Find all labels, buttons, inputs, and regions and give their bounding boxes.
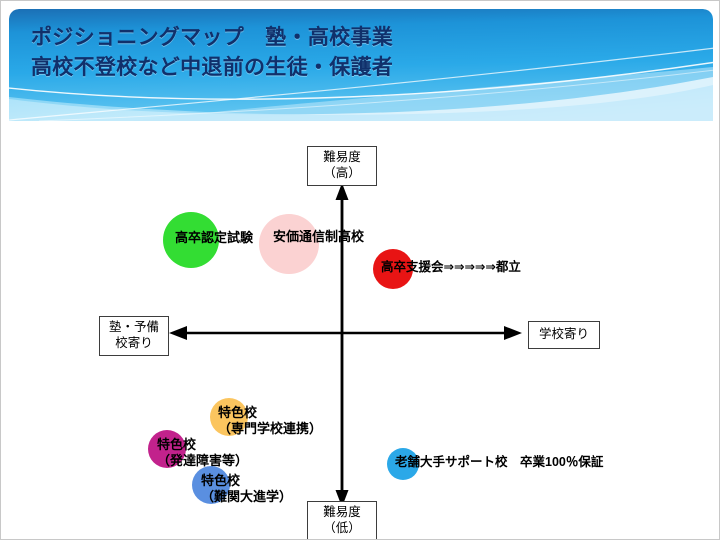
bubble-label-anka-tsushinsei-koko: 安価通信制高校: [273, 229, 483, 245]
axis-label-top-difficulty-high: 難易度 （高）: [307, 146, 377, 186]
slide-canvas: ポジショニングマップ 塾・高校事業 高校不登校など中退前の生徒・保護者 難易度 …: [0, 0, 720, 540]
bubble-label-shinise-ote-support-ko: 老舗大手サポート校 卒業100％保証: [395, 455, 695, 470]
bubble-label-tokushokuko-nankandai: 特色校 （難関大進学）: [201, 473, 391, 505]
horizontal-axis-arrow-right: [504, 326, 522, 340]
axis-label-left-juku-yobiko: 塾・予備 校寄り: [99, 316, 169, 356]
axis-label-bottom-difficulty-low: 難易度 （低）: [307, 501, 377, 540]
bubble-label-tokushokuko-senmon-renkei: 特色校 （専門学校連携）: [218, 405, 408, 437]
bubble-label-tokushokuko-hattatsu-shogai: 特色校 （発達障害等）: [157, 437, 347, 469]
bubble-label-kosotsu-shienkai-toritsu: 高卒支援会⇒⇒⇒⇒⇒都立: [381, 260, 681, 275]
horizontal-axis-arrow-left: [169, 326, 187, 340]
axis-label-right-gakko: 学校寄り: [528, 321, 600, 349]
